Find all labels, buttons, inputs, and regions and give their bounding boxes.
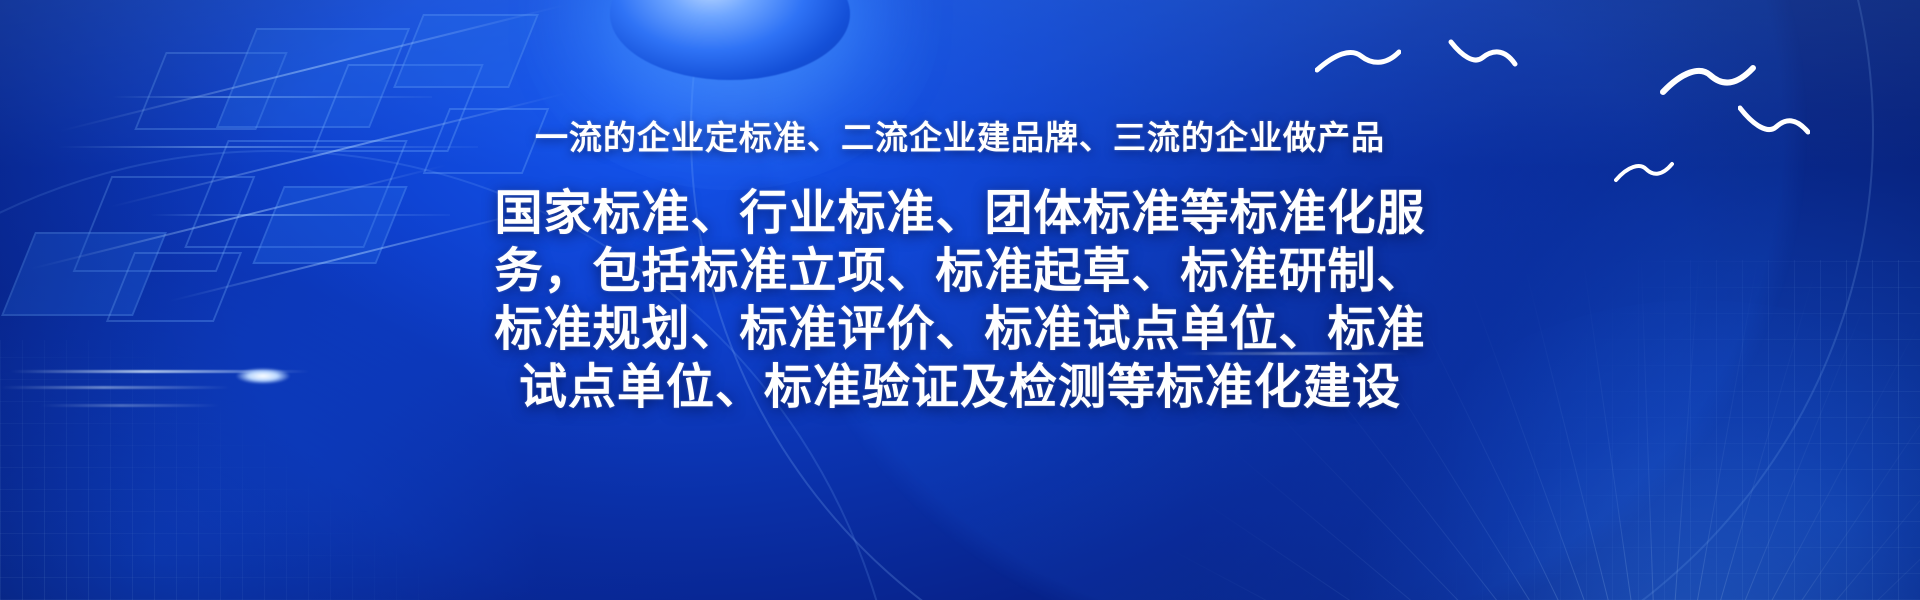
headline-line: 务，包括标准立项、标准起草、标准研制、 bbox=[440, 242, 1480, 300]
headline-line: 标准规划、标准评价、标准试点单位、标准 bbox=[440, 300, 1480, 358]
hero-banner: 一流的企业定标准、二流企业建品牌、三流的企业做产品 国家标准、行业标准、团体标准… bbox=[0, 0, 1920, 600]
headline-line: 试点单位、标准验证及检测等标准化建设 bbox=[440, 358, 1480, 416]
headline-line: 国家标准、行业标准、团体标准等标准化服 bbox=[440, 184, 1480, 242]
banner-subtitle: 一流的企业定标准、二流企业建品牌、三流的企业做产品 bbox=[0, 118, 1920, 158]
banner-text-block: 一流的企业定标准、二流企业建品牌、三流的企业做产品 国家标准、行业标准、团体标准… bbox=[0, 0, 1920, 416]
banner-headline: 国家标准、行业标准、团体标准等标准化服 务，包括标准立项、标准起草、标准研制、 … bbox=[440, 184, 1480, 416]
